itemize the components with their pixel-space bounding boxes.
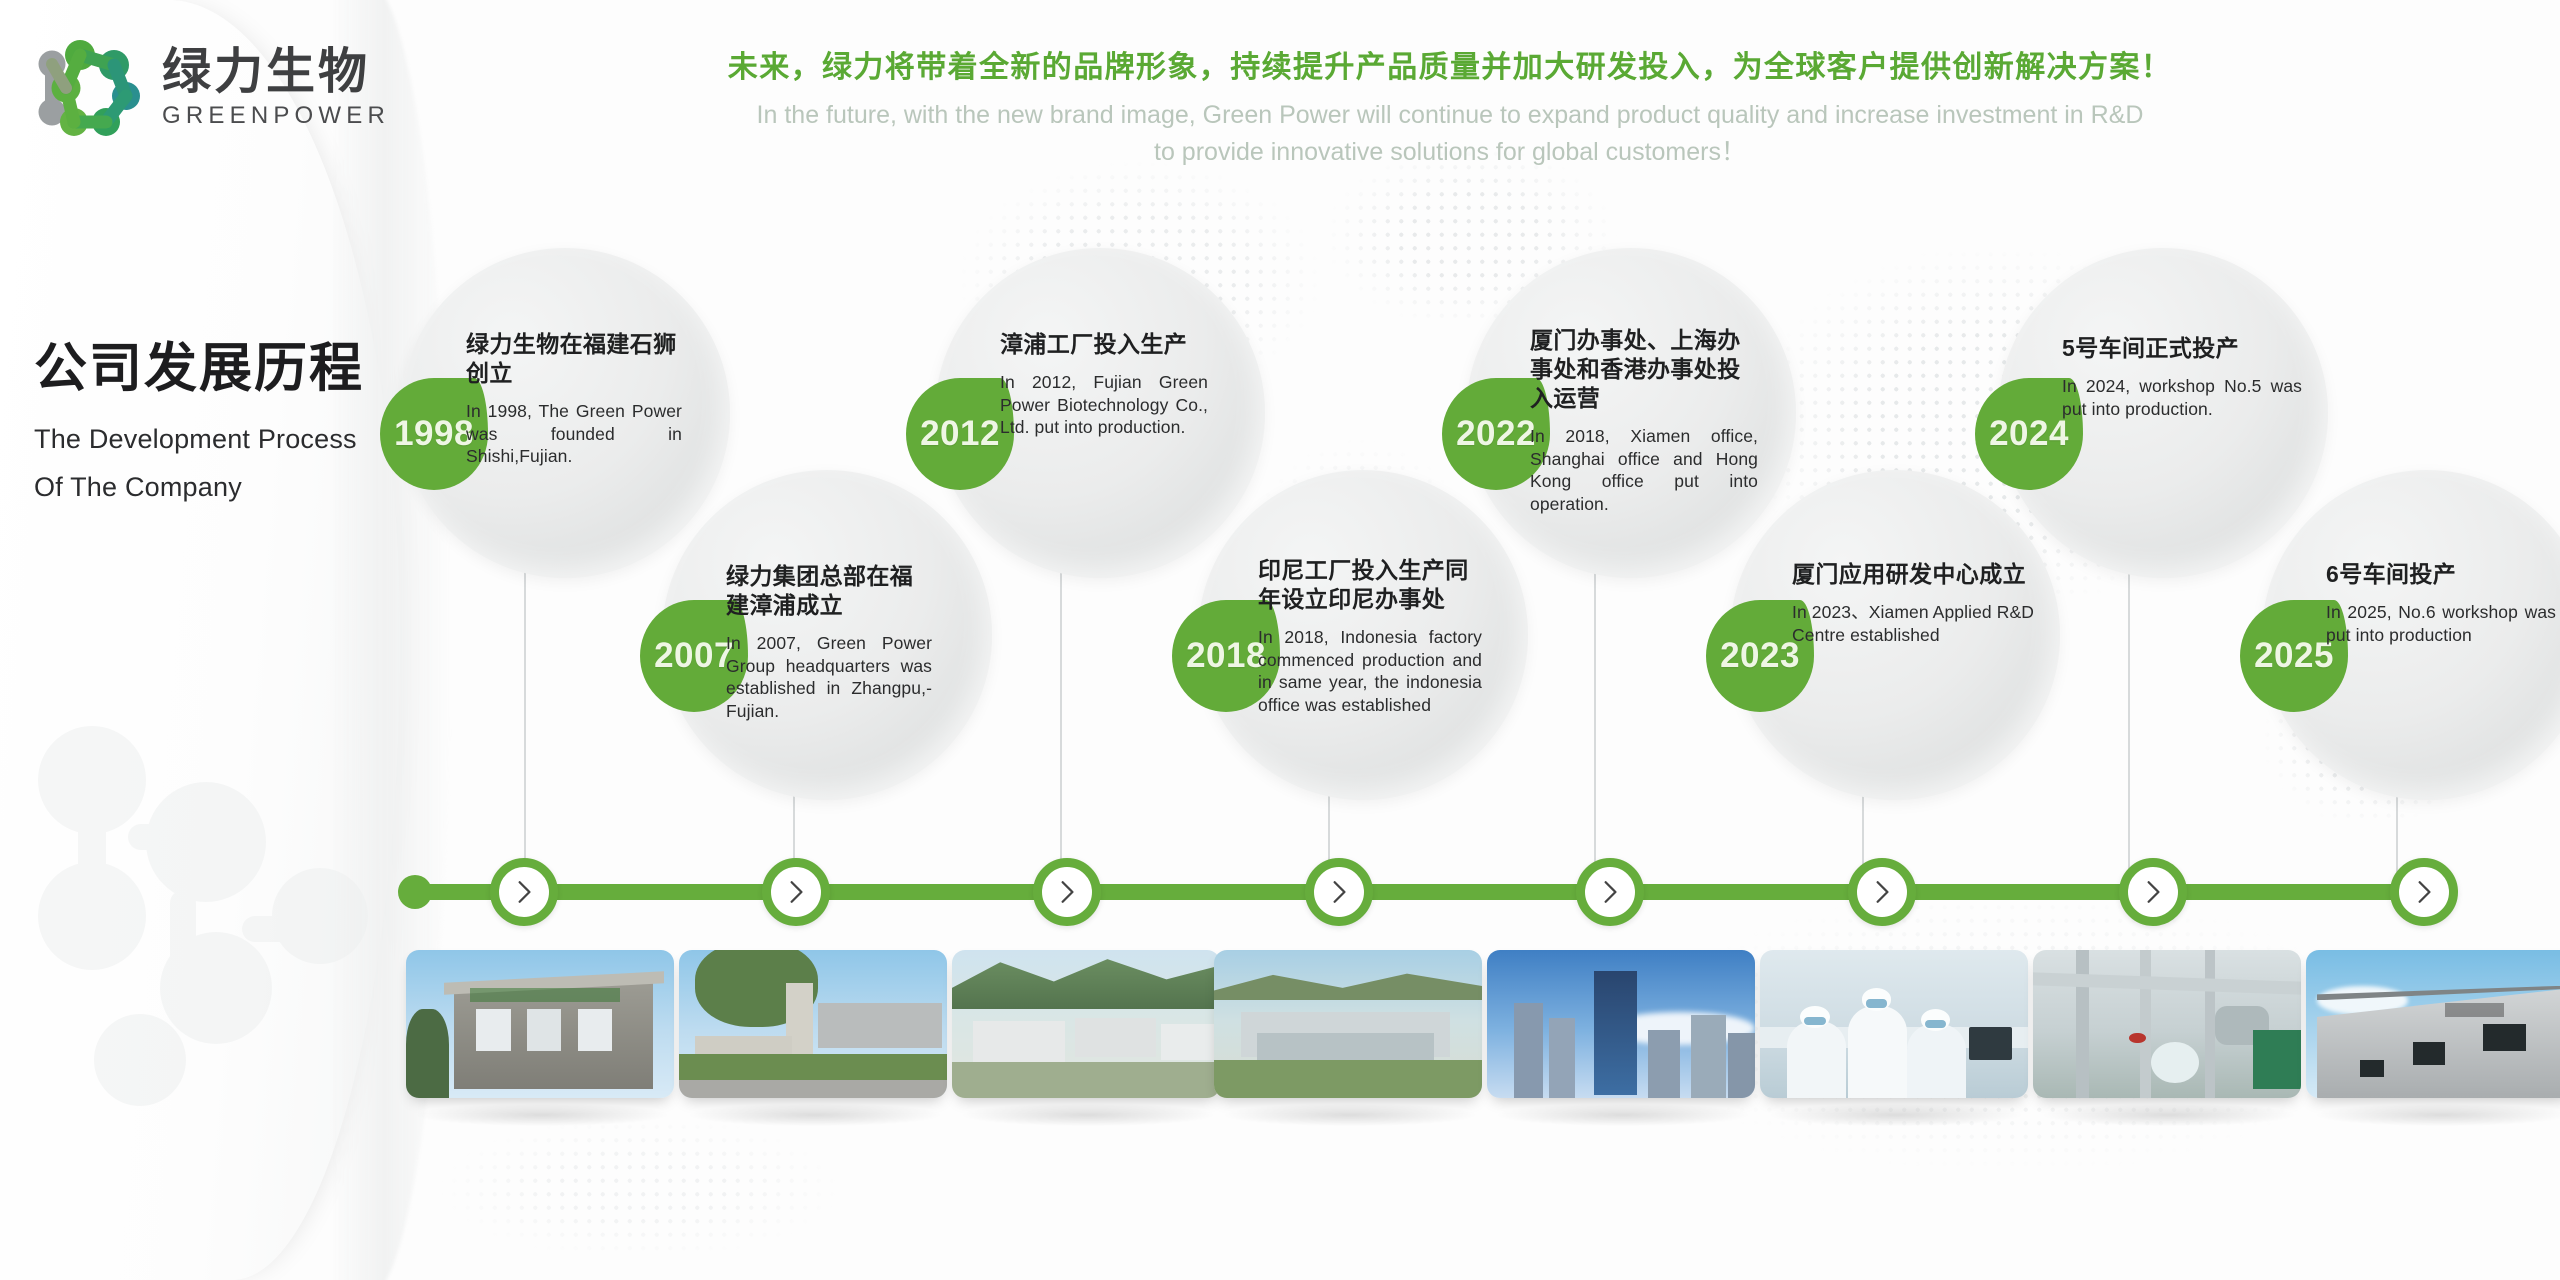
wall-signage-shape xyxy=(2445,1003,2504,1016)
photo-content xyxy=(679,950,947,1098)
milestone-year-2025: 2025 xyxy=(2254,636,2334,676)
milestone-year-2023: 2023 xyxy=(1720,636,1800,676)
photo-shadow-3 xyxy=(963,1104,1213,1126)
milestone-cn-2025: 6号车间投产 xyxy=(2326,560,2556,589)
milestone-cn-2024: 5号车间正式投产 xyxy=(2062,334,2302,363)
milestone-text-2012: 漳浦工厂投入生产 In 2012, Fujian Green Power Bio… xyxy=(1000,330,1208,439)
banner-chinese-headline: 未来，绿力将带着全新的品牌形象，持续提升产品质量并加大研发投入，为全球客户提供创… xyxy=(640,48,2260,89)
timeline-node-7[interactable] xyxy=(2119,858,2187,926)
monitor-shape xyxy=(1969,1027,2012,1060)
page-title-english-line-1: The Development Process xyxy=(34,424,364,455)
timeline-node-8[interactable] xyxy=(2390,858,2458,926)
plant-campus-aerial-photo[interactable] xyxy=(1214,950,1482,1098)
green-tank-shape xyxy=(2253,1030,2301,1089)
company-logo[interactable]: 绿力生物 GREENPOWER xyxy=(36,38,390,138)
factory-block-shape xyxy=(1075,1018,1155,1056)
milestone-year-2012: 2012 xyxy=(920,414,1000,454)
window-shape xyxy=(476,1009,511,1050)
production-equipment-photo[interactable] xyxy=(2033,950,2301,1098)
milestone-text-2022: 厦门办事处、上海办事处和香港办事处投入运营 In 2018, Xiamen of… xyxy=(1530,326,1758,516)
photo-shadow-7 xyxy=(2044,1104,2294,1126)
milestone-en-2024: In 2024, workshop No.5 was put into prod… xyxy=(2062,375,2302,421)
dotted-map-region-bottom-left xyxy=(380,1120,900,1280)
page-title: 公司发展历程 The Development Process Of The Co… xyxy=(34,340,364,503)
chevron-right-icon xyxy=(511,879,537,905)
yard-shape xyxy=(952,1062,1220,1098)
pipe-shape xyxy=(2076,950,2089,1098)
valve-shape xyxy=(2129,1033,2145,1043)
photo-content xyxy=(952,950,1220,1098)
milestone-en-2023: In 2023、Xiamen Applied R&D Centre establ… xyxy=(1792,601,2034,647)
milestone-cn-2012: 漳浦工厂投入生产 xyxy=(1000,330,1208,359)
road-shape xyxy=(679,1080,947,1098)
photo-shadow-5 xyxy=(1498,1104,1748,1126)
new-workshop-building-photo[interactable] xyxy=(2306,950,2560,1098)
photo-content xyxy=(1214,950,1482,1098)
page-title-chinese: 公司发展历程 xyxy=(34,340,364,398)
milestone-year-2018: 2018 xyxy=(1186,636,1266,676)
chevron-right-icon xyxy=(1054,879,1080,905)
face-mask-shape xyxy=(1925,1020,1946,1029)
face-mask-shape xyxy=(1804,1017,1825,1026)
photo-shadow-8 xyxy=(2317,1104,2560,1126)
milestone-cn-1998: 绿力生物在福建石狮创立 xyxy=(466,330,682,388)
window-shape xyxy=(2483,1024,2526,1051)
banner-english-line-1: In the future, with the new brand image,… xyxy=(640,98,2260,134)
pipe-shape xyxy=(2205,950,2216,1098)
milestone-year-2007: 2007 xyxy=(654,636,734,676)
milestone-year-badge-2012: 2012 xyxy=(906,378,1014,490)
chevron-right-icon xyxy=(783,879,809,905)
timeline-node-6[interactable] xyxy=(1848,858,1916,926)
photo-content xyxy=(2033,950,2301,1098)
green-field-shape xyxy=(1214,1060,1482,1098)
timeline-node-3[interactable] xyxy=(1033,858,1101,926)
milestone-en-2025: In 2025, No.6 workshop was put into prod… xyxy=(2326,601,2556,647)
staff-figure-shape xyxy=(1787,1021,1846,1098)
photo-content xyxy=(406,950,674,1098)
slide-canvas: 绿力生物 GREENPOWER 未来，绿力将带着全新的品牌形象，持续提升产品质量… xyxy=(0,0,2560,1280)
milestone-en-2022: In 2018, Xiamen office, Shanghai office … xyxy=(1530,425,1758,516)
milestone-en-2007: In 2007, Green Power Group headquarters … xyxy=(726,632,932,723)
milestone-en-2012: In 2012, Fujian Green Power Biotechnolog… xyxy=(1000,371,1208,439)
milestone-year-1998: 1998 xyxy=(394,414,474,454)
window-shape xyxy=(2413,1042,2445,1066)
timeline-node-5[interactable] xyxy=(1576,858,1644,926)
warehouse-roof-shape xyxy=(1257,1033,1434,1060)
company-gate-entrance-photo[interactable] xyxy=(679,950,947,1098)
headline-banner: 未来，绿力将带着全新的品牌形象，持续提升产品质量并加大研发投入，为全球客户提供创… xyxy=(640,48,2260,171)
old-factory-building-photo[interactable] xyxy=(406,950,674,1098)
milestone-en-1998: In 1998, The Green Power was founded in … xyxy=(466,400,682,468)
window-shape xyxy=(578,1009,613,1050)
tower-shape xyxy=(1514,1003,1543,1098)
hedge-shape xyxy=(679,1054,947,1081)
page-title-english-line-2: Of The Company xyxy=(34,472,364,503)
timeline-rail xyxy=(408,884,2398,900)
photo-content xyxy=(2306,950,2560,1098)
chevron-right-icon xyxy=(2140,879,2166,905)
milestone-cn-2018: 印尼工厂投入生产同年设立印尼办事处 xyxy=(1258,556,1482,614)
background-building-shape xyxy=(818,1003,941,1047)
greenpower-molecule-logo-icon xyxy=(36,38,148,138)
laboratory-staff-photo[interactable] xyxy=(1760,950,2028,1098)
timeline-node-4[interactable] xyxy=(1305,858,1373,926)
chevron-right-icon xyxy=(1326,879,1352,905)
logo-wordmark: 绿力生物 GREENPOWER xyxy=(162,48,390,128)
chevron-right-icon xyxy=(1597,879,1623,905)
molecule-watermark-icon xyxy=(20,720,380,1140)
milestone-year-2022: 2022 xyxy=(1456,414,1536,454)
window-shape xyxy=(527,1009,562,1050)
milestone-text-2018: 印尼工厂投入生产同年设立印尼办事处 In 2018, Indonesia fac… xyxy=(1258,556,1482,717)
factory-block-shape xyxy=(973,1021,1064,1065)
bag-filter-shape xyxy=(2151,1042,2199,1083)
window-shape xyxy=(2360,1060,2384,1078)
photo-shadow-1 xyxy=(417,1104,667,1126)
milestone-text-2025: 6号车间投产 In 2025, No.6 workshop was put in… xyxy=(2326,560,2556,646)
photo-content xyxy=(1487,950,1755,1098)
milestone-cn-2023: 厦门应用研发中心成立 xyxy=(1792,560,2034,589)
pipe-shape xyxy=(2140,950,2151,1098)
face-mask-shape xyxy=(1866,999,1887,1008)
factory-block-shape xyxy=(1161,1024,1215,1060)
timeline-node-1[interactable] xyxy=(490,858,558,926)
banner-english-line-2: to provide innovative solutions for glob… xyxy=(640,135,2260,171)
factory-aerial-view-photo[interactable] xyxy=(952,950,1220,1098)
chevron-right-icon xyxy=(2411,879,2437,905)
photo-shadow-2 xyxy=(690,1104,940,1126)
milestone-text-2024: 5号车间正式投产 In 2024, workshop No.5 was put … xyxy=(2062,334,2302,420)
staff-figure-shape xyxy=(1848,1006,1907,1098)
milestone-text-2023: 厦门应用研发中心成立 In 2023、Xiamen Applied R&D Ce… xyxy=(1792,560,2034,646)
photo-content xyxy=(1760,950,2028,1098)
chevron-right-icon xyxy=(1869,879,1895,905)
milestone-cn-2007: 绿力集团总部在福建漳浦成立 xyxy=(726,562,932,620)
tower-shape xyxy=(1549,1018,1576,1098)
sign-text-shape xyxy=(470,988,620,1001)
photo-shadow-4 xyxy=(1225,1104,1475,1126)
timeline-node-2[interactable] xyxy=(762,858,830,926)
milestone-year-2024: 2024 xyxy=(1989,414,2069,454)
photo-shadow-6 xyxy=(1771,1104,2021,1126)
logo-english-name: GREENPOWER xyxy=(162,104,390,128)
milestone-cn-2022: 厦门办事处、上海办事处和香港办事处投入运营 xyxy=(1530,326,1758,413)
milestone-text-1998: 绿力生物在福建石狮创立 In 1998, The Green Power was… xyxy=(466,330,682,468)
milestone-en-2018: In 2018, Indonesia factory commenced pro… xyxy=(1258,626,1482,717)
tower-shape xyxy=(1728,1033,1755,1098)
timeline-start-cap xyxy=(398,875,432,909)
logo-chinese-name: 绿力生物 xyxy=(162,48,390,97)
skyscraper-shape xyxy=(1594,971,1637,1095)
staff-figure-shape xyxy=(1907,1024,1966,1098)
city-skyline-office-photo[interactable] xyxy=(1487,950,1755,1098)
tower-shape xyxy=(1648,1030,1680,1098)
tower-shape xyxy=(1691,1015,1726,1098)
milestone-text-2007: 绿力集团总部在福建漳浦成立 In 2007, Green Power Group… xyxy=(726,562,932,723)
tree-shape xyxy=(406,1009,449,1098)
